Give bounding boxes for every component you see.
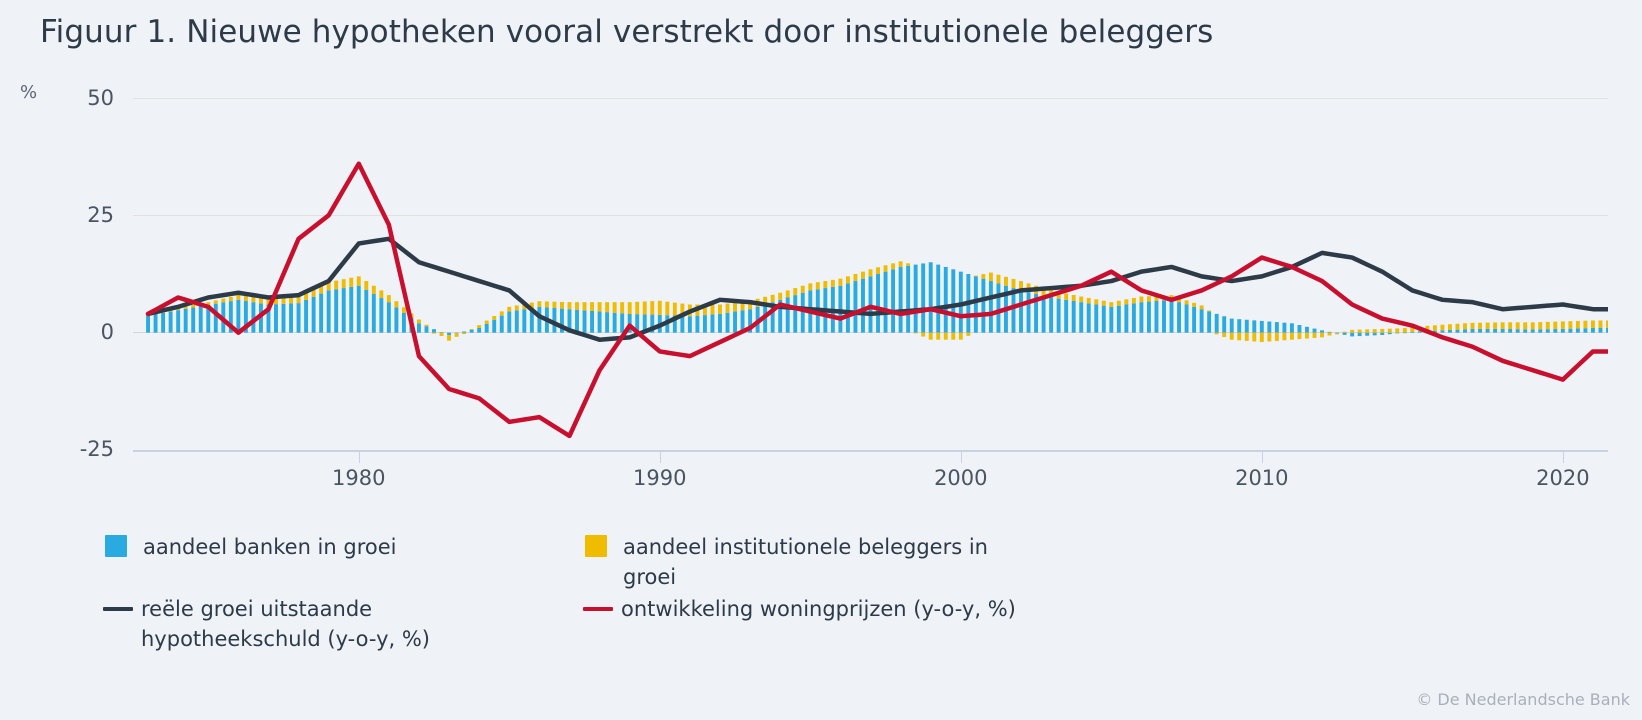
x-tick-label-1980: 1980 [332, 466, 385, 490]
legend-swatch-yellow-icon [585, 535, 607, 557]
plot-area [133, 98, 1608, 450]
legend-line-navy-icon [103, 607, 133, 611]
legend-label-institutional: aandeel institutionele beleggers in groe… [623, 532, 1023, 592]
x-tick-mark-2000 [961, 452, 962, 463]
x-tick-mark-2020 [1563, 452, 1564, 463]
legend-swatch-blue-icon [105, 535, 127, 557]
copyright-notice: © De Nederlandsche Bank [1416, 690, 1630, 709]
legend-label-house-prices: ontwikkeling woningprijzen (y-o-y, %) [621, 594, 1016, 624]
x-tick-label-1990: 1990 [633, 466, 686, 490]
legend-label-real-growth: reële groei uitstaande hypotheekschuld (… [141, 594, 541, 654]
chart-canvas [133, 98, 1608, 450]
x-tick-label-2020: 2020 [1536, 466, 1589, 490]
x-tick-mark-1990 [660, 452, 661, 463]
y-tick-50: 50 [24, 86, 114, 110]
legend-item-house-prices[interactable]: ontwikkeling woningprijzen (y-o-y, %) [583, 594, 1023, 624]
y-tick-neg25: -25 [24, 437, 114, 461]
legend-item-real-growth[interactable]: reële groei uitstaande hypotheekschuld (… [103, 594, 543, 654]
y-tick-0: 0 [24, 320, 114, 344]
legend-line-red-icon [583, 607, 613, 611]
legend-item-banks[interactable]: aandeel banken in groei [105, 532, 545, 562]
x-tick-mark-1980 [359, 452, 360, 463]
y-tick-25: 25 [24, 203, 114, 227]
legend-item-institutional[interactable]: aandeel institutionele beleggers in groe… [585, 532, 1025, 592]
x-tick-label-2010: 2010 [1235, 466, 1288, 490]
x-tick-mark-2010 [1262, 452, 1263, 463]
legend-label-banks: aandeel banken in groei [143, 532, 396, 562]
x-axis-line [133, 450, 1608, 452]
x-tick-label-2000: 2000 [934, 466, 987, 490]
chart-legend: aandeel banken in groei aandeel institut… [0, 522, 1642, 662]
page-title: Figuur 1. Nieuwe hypotheken vooral verst… [40, 14, 1213, 50]
